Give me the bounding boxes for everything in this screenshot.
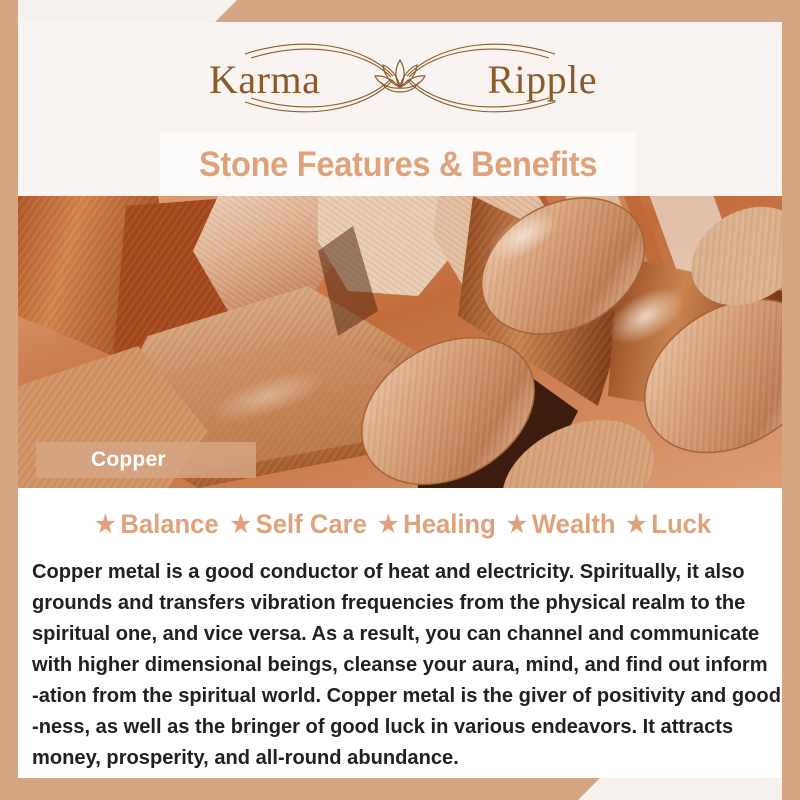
title-band: Stone Features & Benefits (160, 133, 636, 196)
content-panel: ★ Balance ★ Self Care ★ Healing ★ Wealth… (18, 488, 782, 778)
benefit-label: Balance (120, 509, 218, 540)
brand-name-first: Karma (209, 56, 320, 103)
benefit-item-healing: ★ Healing (373, 509, 496, 540)
benefit-item-balance: ★ Balance (90, 509, 218, 540)
description-line: Copper metal is a good conductor of heat… (32, 556, 753, 587)
photo-caption-bar: Copper (36, 442, 256, 478)
brand-lockup: Karma Ripple (185, 32, 615, 124)
star-icon: ★ (378, 510, 398, 539)
description-line: with higher dimensional beings, cleanse … (32, 649, 753, 680)
benefit-label: Wealth (532, 509, 616, 540)
benefits-list: ★ Balance ★ Self Care ★ Healing ★ Wealth… (18, 488, 782, 548)
content-card: Karma Ripple Stone Features & Benefits (18, 22, 782, 778)
benefit-item-self-care: ★ Self Care (225, 509, 366, 540)
benefit-item-wealth: ★ Wealth (502, 509, 616, 540)
brand-name-second: Ripple (487, 56, 597, 103)
photo-caption-text: Copper (91, 448, 166, 472)
description-line: spiritual one, and vice versa. As a resu… (32, 618, 753, 649)
frame-top-bar (215, 0, 800, 22)
star-icon: ★ (507, 510, 527, 539)
benefit-label: Luck (651, 509, 711, 540)
brand-header: Karma Ripple (18, 22, 782, 133)
infographic-page: Karma Ripple Stone Features & Benefits (0, 0, 800, 800)
frame-left-bar (0, 0, 18, 800)
benefit-label: Healing (403, 509, 496, 540)
star-icon: ★ (626, 510, 646, 539)
description-line: -ness, as well as the bringer of good lu… (32, 711, 753, 742)
description-text: Copper metal is a good conductor of heat… (32, 556, 753, 773)
frame-right-bar (782, 0, 800, 800)
description-line: money, prosperity, and all-round abundan… (32, 742, 753, 773)
description-line: -ation from the spiritual world. Copper … (32, 680, 753, 711)
copper-bars-photo: Copper (18, 196, 782, 488)
lotus-icon (375, 60, 425, 92)
page-title: Stone Features & Benefits (199, 145, 597, 185)
benefit-item-luck: ★ Luck (621, 509, 711, 540)
frame-bottom-bar (0, 778, 600, 800)
star-icon: ★ (95, 510, 115, 539)
benefit-label: Self Care (255, 509, 366, 540)
description-line: grounds and transfers vibration frequenc… (32, 587, 753, 618)
star-icon: ★ (230, 510, 250, 539)
